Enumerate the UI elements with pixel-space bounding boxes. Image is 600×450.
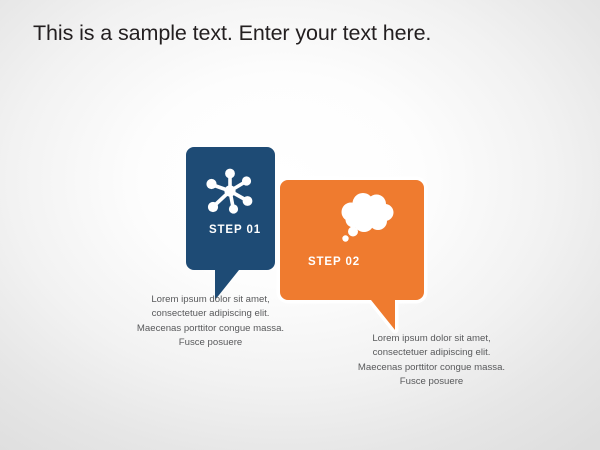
step-02-description-line: Fusce posuere <box>329 375 534 389</box>
slide-canvas: This is a sample text. Enter your text h… <box>0 0 600 450</box>
step-02-description: Lorem ipsum dolor sit amet, consectetuer… <box>329 332 534 389</box>
step-01-description: Lorem ipsum dolor sit amet, consectetuer… <box>108 293 313 350</box>
step-02-description-line: consectetuer adipiscing elit. <box>329 346 534 360</box>
step-01-description-line: Maecenas porttitor congue massa. <box>108 322 313 336</box>
step-02-description-line: Maecenas porttitor congue massa. <box>329 361 534 375</box>
step-01-description-line: Lorem ipsum dolor sit amet, <box>108 293 313 307</box>
step-01-description-line: consectetuer adipiscing elit. <box>108 307 313 321</box>
step-02-label: STEP 02 <box>288 256 380 268</box>
step-01-description-line: Fusce posuere <box>108 336 313 350</box>
step-01-label: STEP 01 <box>194 224 276 236</box>
step-02-description-line: Lorem ipsum dolor sit amet, <box>329 332 534 346</box>
